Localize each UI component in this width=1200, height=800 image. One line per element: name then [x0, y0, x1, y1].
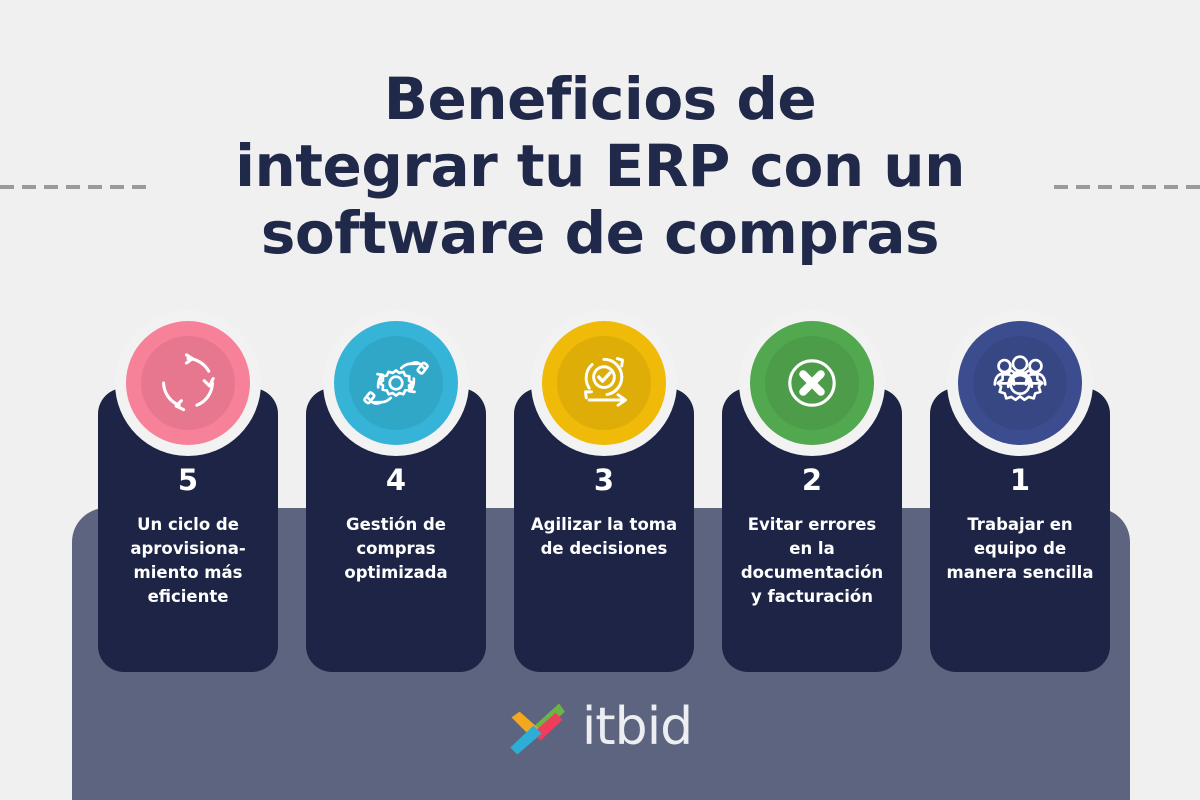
- benefit-card-list: 5 Un ciclo de aprovisiona-miento más efi…: [98, 388, 1110, 672]
- brand-logo-text: itbid: [582, 701, 692, 757]
- benefit-badge-5: [115, 310, 261, 456]
- benefit-card-3[interactable]: 3 Agilizar la toma de decisiones: [514, 388, 694, 672]
- benefit-number-5: 5: [108, 464, 268, 496]
- benefit-label-3: Agilizar la toma de decisiones: [524, 513, 684, 561]
- benefit-badge-inner-5: [126, 321, 250, 445]
- benefit-label-1: Trabajar en equipo de manera sencilla: [940, 513, 1100, 585]
- benefit-badge-inner-2: [750, 321, 874, 445]
- cycle-arrows-icon: [151, 346, 225, 420]
- infographic-root: Beneficios de integrar tu ERP con un sof…: [0, 0, 1200, 800]
- page-title-line-2: integrar tu ERP con un: [150, 133, 1050, 200]
- benefit-card-5[interactable]: 5 Un ciclo de aprovisiona-miento más efi…: [98, 388, 278, 672]
- benefit-number-3: 3: [524, 464, 684, 496]
- benefit-number-2: 2: [732, 464, 892, 496]
- benefit-label-5: Un ciclo de aprovisiona-miento más efici…: [108, 513, 268, 609]
- dashed-line-left: [0, 185, 146, 189]
- page-title-line-3: software de compras: [150, 200, 1050, 267]
- team-gear-icon: [983, 346, 1057, 420]
- benefit-card-2[interactable]: 2 Evitar errores en la documentación y f…: [722, 388, 902, 672]
- benefit-label-2: Evitar errores en la documentación y fac…: [732, 513, 892, 609]
- benefit-badge-inner-1: [958, 321, 1082, 445]
- benefit-badge-inner-4: [334, 321, 458, 445]
- benefit-number-4: 4: [316, 464, 476, 496]
- page-title: Beneficios de integrar tu ERP con un sof…: [150, 66, 1050, 267]
- benefit-badge-inner-3: [542, 321, 666, 445]
- x-circle-icon: [775, 346, 849, 420]
- benefit-badge-2: [739, 310, 885, 456]
- benefit-number-1: 1: [940, 464, 1100, 496]
- brand-logo[interactable]: itbid: [0, 700, 1200, 758]
- benefit-badge-3: [531, 310, 677, 456]
- page-title-line-1: Beneficios de: [150, 66, 1050, 133]
- benefit-badge-1: [947, 310, 1093, 456]
- itbid-x-mark-icon: [508, 700, 566, 758]
- benefit-label-4: Gestión de compras optimizada: [316, 513, 476, 585]
- hands-gear-icon: [359, 346, 433, 420]
- check-cycle-arrow-icon: [567, 346, 641, 420]
- benefit-badge-4: [323, 310, 469, 456]
- benefit-card-4[interactable]: 4 Gestión de compras optimizada: [306, 388, 486, 672]
- benefit-card-1[interactable]: 1 Trabajar en equipo de manera sencilla: [930, 388, 1110, 672]
- dashed-line-right: [1054, 185, 1200, 189]
